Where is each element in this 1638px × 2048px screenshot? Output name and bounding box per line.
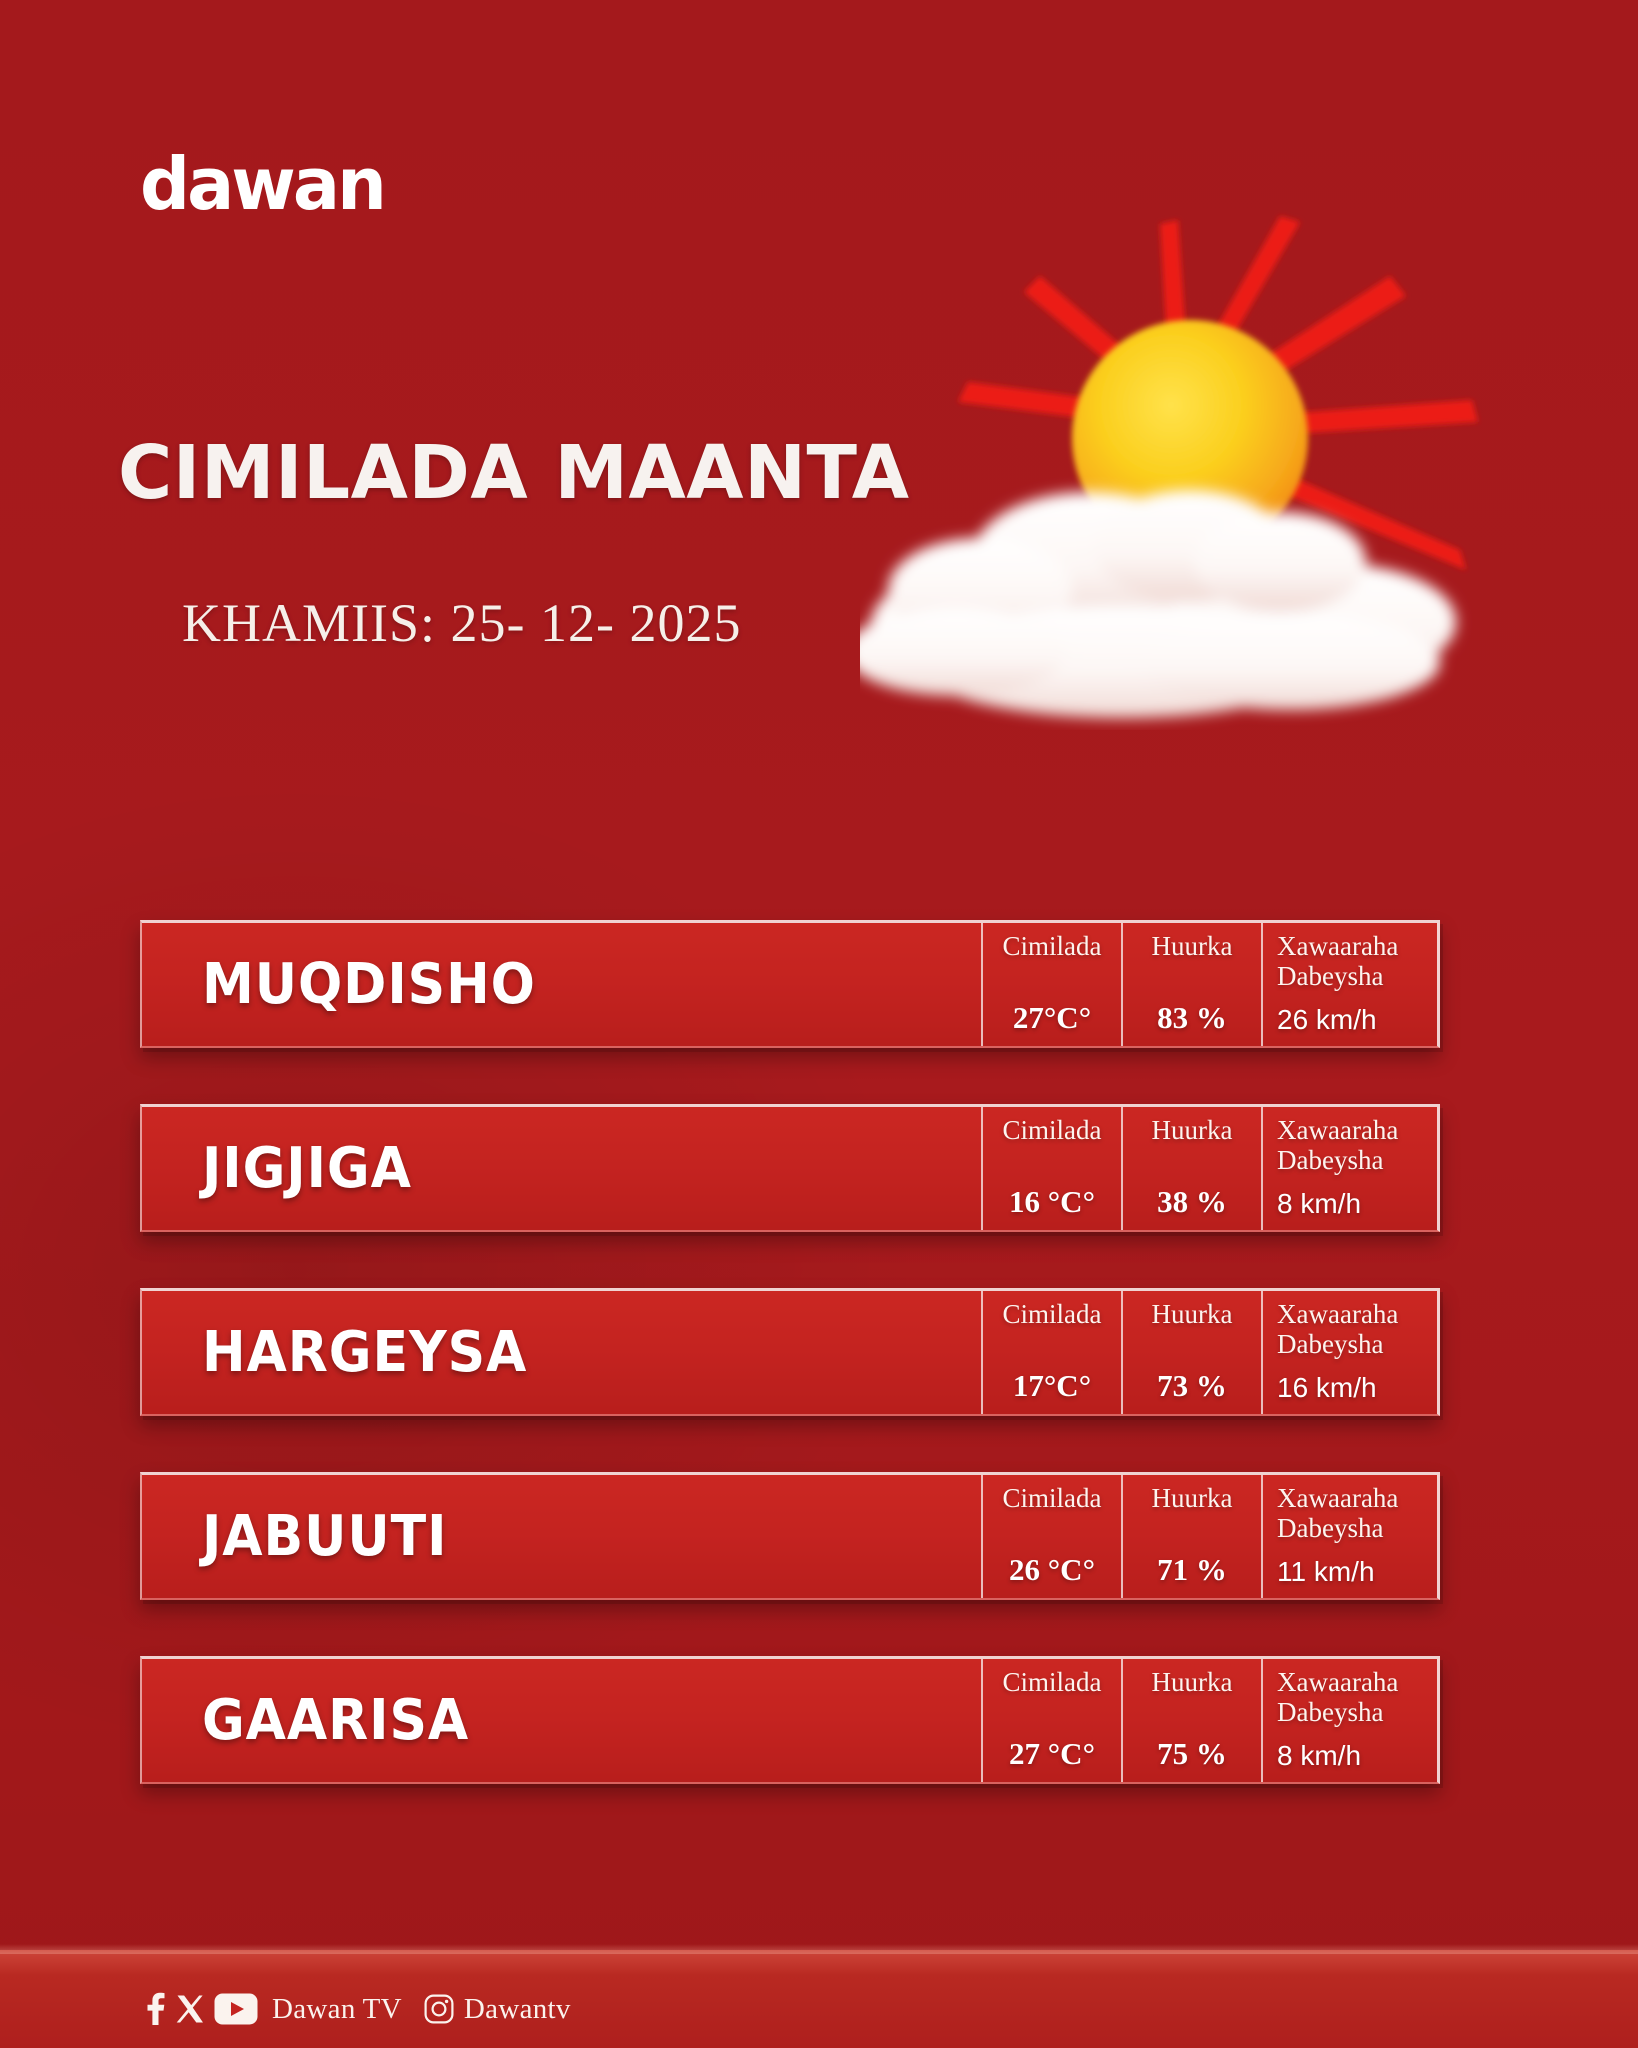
temperature-cell: Cimilada 16 °C° [983,1107,1123,1230]
weather-table: MUQDISHO Cimilada 27°C° Huurka 83 % Xawa… [140,920,1440,1784]
wind-cell: Xawaaraha Dabeysha 16 km/h [1263,1291,1437,1414]
temperature-cell: Cimilada 26 °C° [983,1475,1123,1598]
humidity-cell: Huurka 73 % [1123,1291,1263,1414]
humidity-value: 38 % [1157,1184,1227,1220]
temperature-cell: Cimilada 17°C° [983,1291,1123,1414]
table-row: GAARISA Cimilada 27 °C° Huurka 75 % Xawa… [140,1656,1440,1784]
city-name: MUQDISHO [202,952,536,1017]
page-date: KHAMIIS: 25- 12- 2025 [182,592,741,654]
metrics-group: Cimilada 16 °C° Huurka 38 % Xawaaraha Da… [983,1107,1437,1230]
temperature-label: Cimilada [1003,1299,1102,1329]
table-row: HARGEYSA Cimilada 17°C° Huurka 73 % Xawa… [140,1288,1440,1416]
city-name: JABUUTI [202,1504,447,1569]
temperature-label: Cimilada [1003,931,1102,961]
humidity-label: Huurka [1152,931,1233,961]
wind-cell: Xawaaraha Dabeysha 26 km/h [1263,923,1437,1046]
table-row: MUQDISHO Cimilada 27°C° Huurka 83 % Xawa… [140,920,1440,1048]
metrics-group: Cimilada 27 °C° Huurka 75 % Xawaaraha Da… [983,1659,1437,1782]
humidity-label: Huurka [1152,1299,1233,1329]
wind-label: Xawaaraha Dabeysha [1277,1299,1431,1359]
humidity-label: Huurka [1152,1115,1233,1145]
table-row: JIGJIGA Cimilada 16 °C° Huurka 38 % Xawa… [140,1104,1440,1232]
humidity-value: 83 % [1157,1000,1227,1036]
weather-artwork [860,210,1560,730]
metrics-group: Cimilada 17°C° Huurka 73 % Xawaaraha Dab… [983,1291,1437,1414]
temperature-value: 27 °C° [1009,1736,1095,1772]
temperature-label: Cimilada [1003,1115,1102,1145]
humidity-label: Huurka [1152,1667,1233,1697]
wind-value: 26 km/h [1277,1004,1377,1036]
city-cell: MUQDISHO [142,923,983,1046]
wind-cell: Xawaaraha Dabeysha 8 km/h [1263,1659,1437,1782]
temperature-label: Cimilada [1003,1483,1102,1513]
wind-value: 11 km/h [1277,1556,1375,1588]
wind-label: Xawaaraha Dabeysha [1277,1115,1431,1175]
humidity-cell: Huurka 83 % [1123,923,1263,1046]
humidity-value: 75 % [1157,1736,1227,1772]
city-name: JIGJIGA [202,1136,412,1201]
instagram-handle: Dawantv [464,1993,571,2026]
wind-cell: Xawaaraha Dabeysha 8 km/h [1263,1107,1437,1230]
facebook-icon[interactable] [144,1992,166,2026]
humidity-cell: Huurka 75 % [1123,1659,1263,1782]
page-title: CIMILADA MAANTA [118,430,910,516]
wind-value: 16 km/h [1277,1372,1377,1404]
youtube-icon[interactable] [214,1993,258,2025]
humidity-cell: Huurka 71 % [1123,1475,1263,1598]
humidity-value: 71 % [1157,1552,1227,1588]
wind-label: Xawaaraha Dabeysha [1277,1483,1431,1543]
temperature-value: 26 °C° [1009,1552,1095,1588]
city-cell: JABUUTI [142,1475,983,1598]
wind-cell: Xawaaraha Dabeysha 11 km/h [1263,1475,1437,1598]
wind-value: 8 km/h [1277,1740,1361,1772]
temperature-value: 17°C° [1013,1368,1091,1404]
wind-label: Xawaaraha Dabeysha [1277,931,1431,991]
instagram-icon[interactable] [424,1994,454,2024]
temperature-cell: Cimilada 27°C° [983,923,1123,1046]
city-cell: GAARISA [142,1659,983,1782]
temperature-cell: Cimilada 27 °C° [983,1659,1123,1782]
humidity-label: Huurka [1152,1483,1233,1513]
temperature-value: 27°C° [1013,1000,1091,1036]
weather-poster: dawan [0,0,1638,2048]
footer: Dawan TV Dawantv [144,1992,571,2026]
dawan-logo: dawan [140,148,384,220]
wind-label: Xawaaraha Dabeysha [1277,1667,1431,1727]
city-name: GAARISA [202,1688,469,1753]
social-handle: Dawan TV [272,1993,402,2026]
humidity-value: 73 % [1157,1368,1227,1404]
metrics-group: Cimilada 26 °C° Huurka 71 % Xawaaraha Da… [983,1475,1437,1598]
temperature-value: 16 °C° [1009,1184,1095,1220]
x-twitter-icon[interactable] [176,1994,204,2024]
city-cell: JIGJIGA [142,1107,983,1230]
city-cell: HARGEYSA [142,1291,983,1414]
city-name: HARGEYSA [202,1320,527,1385]
wind-value: 8 km/h [1277,1188,1361,1220]
table-row: JABUUTI Cimilada 26 °C° Huurka 71 % Xawa… [140,1472,1440,1600]
humidity-cell: Huurka 38 % [1123,1107,1263,1230]
temperature-label: Cimilada [1003,1667,1102,1697]
metrics-group: Cimilada 27°C° Huurka 83 % Xawaaraha Dab… [983,923,1437,1046]
